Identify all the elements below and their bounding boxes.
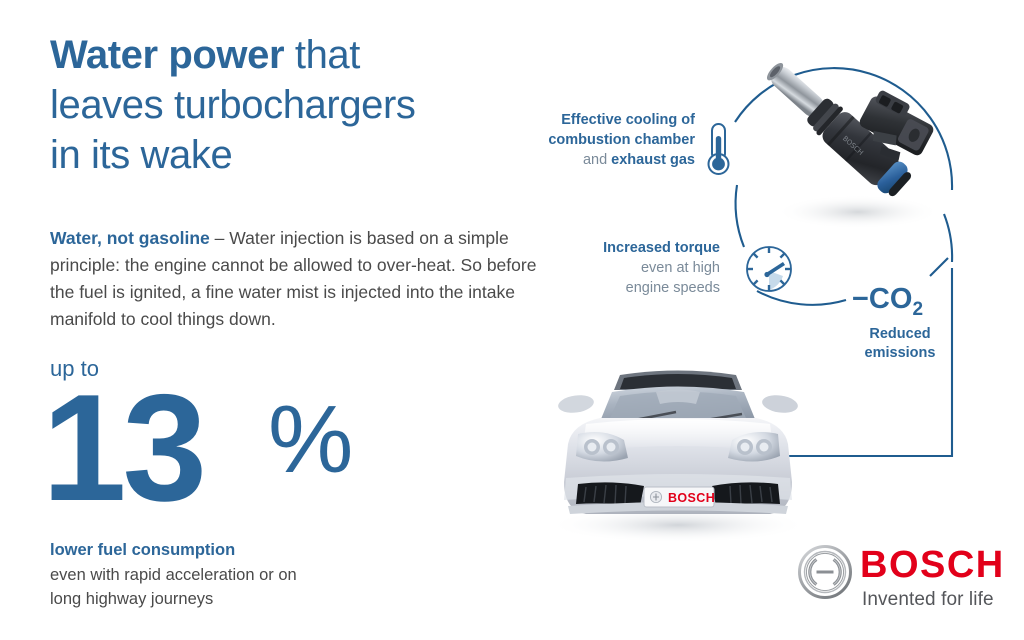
callout-torque: Increased torque even at high engine spe… (560, 238, 720, 298)
body-paragraph: Water, not gasoline – Water injection is… (50, 225, 560, 333)
bosch-logo: BOSCH Invented for life (798, 545, 998, 617)
headline-bold: Water power (50, 33, 284, 77)
callout-cooling: Effective cooling of combustion chamber … (500, 110, 695, 170)
bosch-armature-emblem (798, 545, 852, 599)
infographic-canvas: BOSCH (0, 0, 1024, 640)
callout-cooling-conjunction: and (583, 152, 611, 168)
svg-text:BOSCH: BOSCH (668, 491, 715, 505)
callout-torque-line2: engine speeds (626, 280, 720, 296)
co2-label: −CO2 (852, 283, 923, 321)
callout-cooling-line1: Effective cooling of (561, 112, 695, 128)
bosch-tagline: Invented for life (862, 589, 994, 611)
callout-cooling-line3: exhaust gas (611, 152, 695, 168)
co2-desc-line2: emissions (865, 345, 936, 361)
bosch-wordmark: BOSCH (860, 545, 1005, 585)
co2-subscript: 2 (912, 299, 923, 320)
headline-line2: leaves turbochargers (50, 83, 416, 127)
headline-line3: in its wake (50, 133, 232, 177)
stat-value: 13 (42, 372, 203, 524)
stat-label-line2: long highway journeys (50, 590, 213, 608)
co2-description: Reduced emissions (852, 325, 948, 363)
callout-torque-title: Increased torque (603, 240, 720, 256)
stat-label-bold: lower fuel consumption (50, 541, 235, 559)
co2-desc-line1: Reduced (869, 326, 930, 342)
body-lead-in: Water, not gasoline (50, 228, 210, 248)
callout-torque-line1: even at high (641, 260, 720, 276)
headline-rest-line1: that (284, 33, 360, 77)
callout-cooling-line2: combustion chamber (548, 132, 695, 148)
page-title: Water power that leaves turbochargers in… (50, 30, 520, 180)
stat-label-line1: even with rapid acceleration or on (50, 566, 297, 584)
co2-prefix: −CO (852, 283, 912, 315)
stat-description: lower fuel consumption even with rapid a… (50, 538, 380, 612)
license-plate-emblem (650, 491, 661, 502)
stat-unit: % (268, 392, 353, 488)
